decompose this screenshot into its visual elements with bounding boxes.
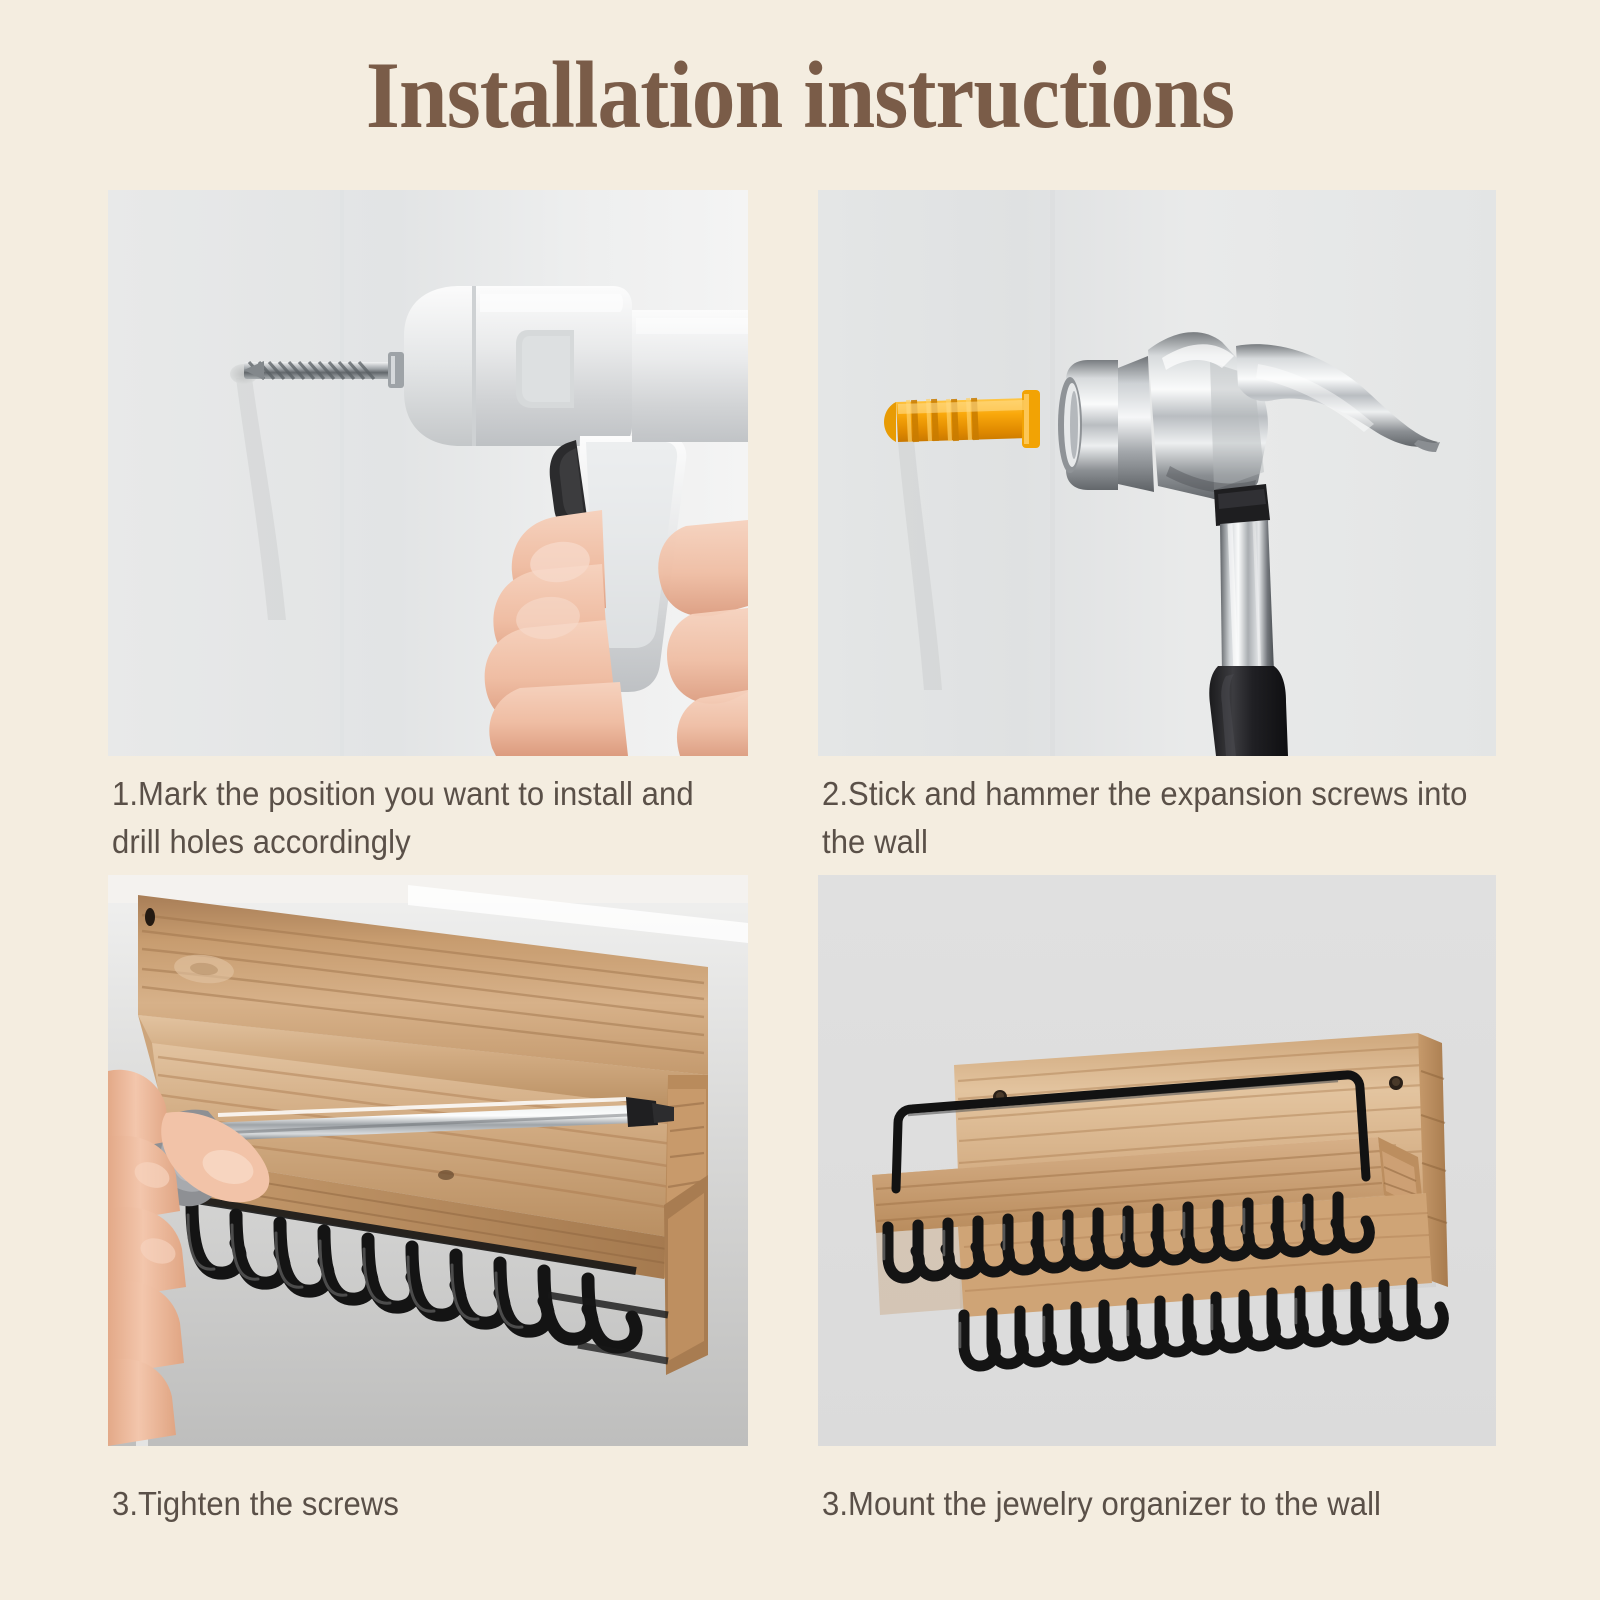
step-1-image <box>108 190 748 756</box>
step-3-caption: 3.Tighten the screws <box>112 1480 714 1528</box>
step-2-image <box>818 190 1496 756</box>
step-1-caption: 1.Mark the position you want to install … <box>112 770 714 866</box>
step-4-caption: 3.Mount the jewelry organizer to the wal… <box>822 1480 1480 1528</box>
step-2-caption: 2.Stick and hammer the expansion screws … <box>822 770 1480 866</box>
step-3-image <box>108 875 748 1446</box>
page-title: Installation instructions <box>64 48 1536 143</box>
infographic-page: Installation instructions <box>0 0 1600 1600</box>
step-4-image <box>818 875 1496 1446</box>
